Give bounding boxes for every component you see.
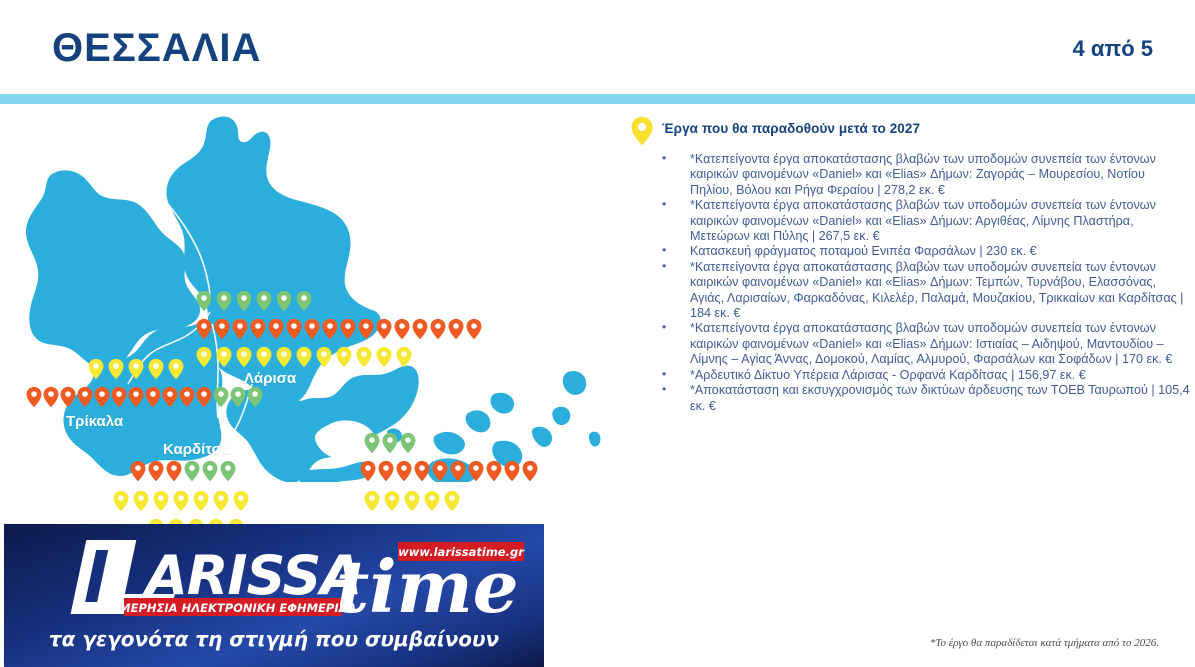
map-pin-green-icon [364, 432, 380, 454]
map-pin-orange-icon [250, 318, 266, 340]
map-pin-yellow-icon [133, 490, 149, 512]
logo-word-primary: ARISSA [142, 544, 361, 607]
map-pin-orange-icon [414, 460, 430, 482]
project-list-item: *Αποκατάσταση και εκσυγχρονισμός των δικ… [660, 383, 1190, 414]
map-pin-orange-icon [322, 318, 338, 340]
map-pin-green-icon [382, 432, 398, 454]
map-pin-yellow-icon [444, 490, 460, 512]
map-pin-green-icon [276, 290, 292, 312]
map-pin-orange-icon [430, 318, 446, 340]
map-pin-orange-icon [232, 318, 248, 340]
map-pin-orange-icon [196, 386, 212, 408]
map-pin-green-icon [230, 386, 246, 408]
projects-header: Έργα που θα παραδοθούν μετά το 2027 [630, 118, 1190, 146]
map-pin-orange-icon [376, 318, 392, 340]
region-label-trikala: Τρίκαλα [66, 413, 123, 430]
map-pin-yellow-icon [364, 490, 380, 512]
map-pin-yellow-icon [276, 346, 292, 368]
map-pin-orange-icon [111, 386, 127, 408]
map-pin-orange-icon [214, 318, 230, 340]
map-pin-orange-icon [466, 318, 482, 340]
map-pin-orange-icon [358, 318, 374, 340]
logo-wordmark: ARISSA ΗΜΕΡΗΣΙΑ ΗΛΕΚΤΡΟΝΙΚΗ ΕΦΗΜΕΡΙΔΑ ti… [28, 532, 528, 622]
map-pin-yellow-icon [173, 490, 189, 512]
map-pin-orange-icon [522, 460, 538, 482]
project-list-item: *Κατεπείγοντα έργα αποκατάστασης βλαβών … [660, 321, 1190, 367]
map-pin-orange-icon [378, 460, 394, 482]
region-label-larisa: Λάρισα [244, 370, 296, 387]
map-pin-orange-icon [43, 386, 59, 408]
map-pin-yellow-icon [148, 358, 164, 380]
map-pin-yellow-icon [113, 490, 129, 512]
map-pin-orange-icon [77, 386, 93, 408]
map-pin-orange-icon [504, 460, 520, 482]
larissatime-logo[interactable]: ARISSA ΗΜΕΡΗΣΙΑ ΗΛΕΚΤΡΟΝΙΚΗ ΕΦΗΜΕΡΙΔΑ ti… [4, 524, 544, 667]
project-list-item: *Κατεπείγοντα έργα αποκατάστασης βλαβών … [660, 152, 1190, 198]
page-header: ΘΕΣΣΑΛΙΑ 4 από 5 [0, 0, 1195, 96]
map-pin-orange-icon [412, 318, 428, 340]
project-list-item: *Αρδευτικό Δίκτυο Υπέρεια Λάρισας - Ορφα… [660, 368, 1190, 383]
map-pin-yellow-icon [356, 346, 372, 368]
map-pin-orange-icon [130, 460, 146, 482]
map-pin-green-icon [216, 290, 232, 312]
map-pin-green-icon [247, 386, 263, 408]
map-pin-green-icon [202, 460, 218, 482]
header-divider [0, 94, 1195, 104]
map-pin-orange-icon [162, 386, 178, 408]
map-pin-icon [630, 116, 654, 146]
map-pin-orange-icon [396, 460, 412, 482]
map-pin-orange-icon [128, 386, 144, 408]
map-pin-orange-icon [394, 318, 410, 340]
map-pin-yellow-icon [168, 358, 184, 380]
project-list-item: *Κατεπείγοντα έργα αποκατάστασης βλαβών … [660, 198, 1190, 244]
map-pin-yellow-icon [233, 490, 249, 512]
map-pin-yellow-icon [108, 358, 124, 380]
region-label-karditsa: Καρδίτσα [163, 441, 231, 458]
projects-list: *Κατεπείγοντα έργα αποκατάστασης βλαβών … [630, 152, 1190, 414]
map-pin-orange-icon [26, 386, 42, 408]
map-pin-orange-icon [148, 460, 164, 482]
map-pin-orange-icon [94, 386, 110, 408]
map-pin-green-icon [213, 386, 229, 408]
map-pin-yellow-icon [216, 346, 232, 368]
map-pin-orange-icon [286, 318, 302, 340]
map-pin-yellow-icon [424, 490, 440, 512]
page-title: ΘΕΣΣΑΛΙΑ [52, 26, 261, 71]
project-list-item: *Κατεπείγοντα έργα αποκατάστασης βλαβών … [660, 260, 1190, 322]
map-pin-yellow-icon [88, 358, 104, 380]
map-pin-green-icon [256, 290, 272, 312]
map-pin-orange-icon [60, 386, 76, 408]
logo-url-text: www.larissatime.gr [398, 545, 525, 559]
project-list-item: Κατασκευή φράγματος ποταμού Ενιπέα Φαρσά… [660, 244, 1190, 259]
map-pin-orange-icon [450, 460, 466, 482]
map-pin-green-icon [236, 290, 252, 312]
map-pin-yellow-icon [404, 490, 420, 512]
map-pin-yellow-icon [296, 346, 312, 368]
map-pin-orange-icon [468, 460, 484, 482]
map-pin-yellow-icon [336, 346, 352, 368]
map-pin-orange-icon [196, 318, 212, 340]
map-pin-orange-icon [145, 386, 161, 408]
thessaly-map: Λάρισα Τρίκαλα Καρδίτσα Μαγνησία [0, 112, 620, 482]
projects-panel: Έργα που θα παραδοθούν μετά το 2027 *Κατ… [630, 118, 1190, 414]
map-pin-orange-icon [340, 318, 356, 340]
map-pin-orange-icon [486, 460, 502, 482]
map-pin-orange-icon [448, 318, 464, 340]
map-pin-green-icon [196, 290, 212, 312]
map-pin-yellow-icon [236, 346, 252, 368]
page-counter: 4 από 5 [1072, 36, 1153, 62]
map-pin-orange-icon [268, 318, 284, 340]
map-pin-yellow-icon [153, 490, 169, 512]
map-pin-yellow-icon [384, 490, 400, 512]
projects-heading: Έργα που θα παραδοθούν μετά το 2027 [662, 118, 920, 136]
map-pin-orange-icon [166, 460, 182, 482]
map-pin-yellow-icon [396, 346, 412, 368]
map-pin-yellow-icon [128, 358, 144, 380]
map-pin-orange-icon [432, 460, 448, 482]
map-pin-yellow-icon [316, 346, 332, 368]
logo-badge-text: ΗΜΕΡΗΣΙΑ ΗΛΕΚΤΡΟΝΙΚΗ ΕΦΗΜΕΡΙΔΑ [110, 601, 357, 615]
map-pin-green-icon [400, 432, 416, 454]
map-pin-orange-icon [179, 386, 195, 408]
map-pin-green-icon [296, 290, 312, 312]
map-pin-yellow-icon [196, 346, 212, 368]
map-pin-yellow-icon [193, 490, 209, 512]
map-pin-green-icon [184, 460, 200, 482]
footnote: *Το έργο θα παραδίδεται κατά τμήματα από… [930, 637, 1159, 649]
map-pin-orange-icon [360, 460, 376, 482]
map-pin-green-icon [220, 460, 236, 482]
map-pin-yellow-icon [256, 346, 272, 368]
logo-tagline: τα γεγονότα τη στιγμή που συμβαίνουν [4, 627, 544, 651]
map-pin-orange-icon [304, 318, 320, 340]
map-pin-yellow-icon [376, 346, 392, 368]
map-pin-yellow-icon [213, 490, 229, 512]
